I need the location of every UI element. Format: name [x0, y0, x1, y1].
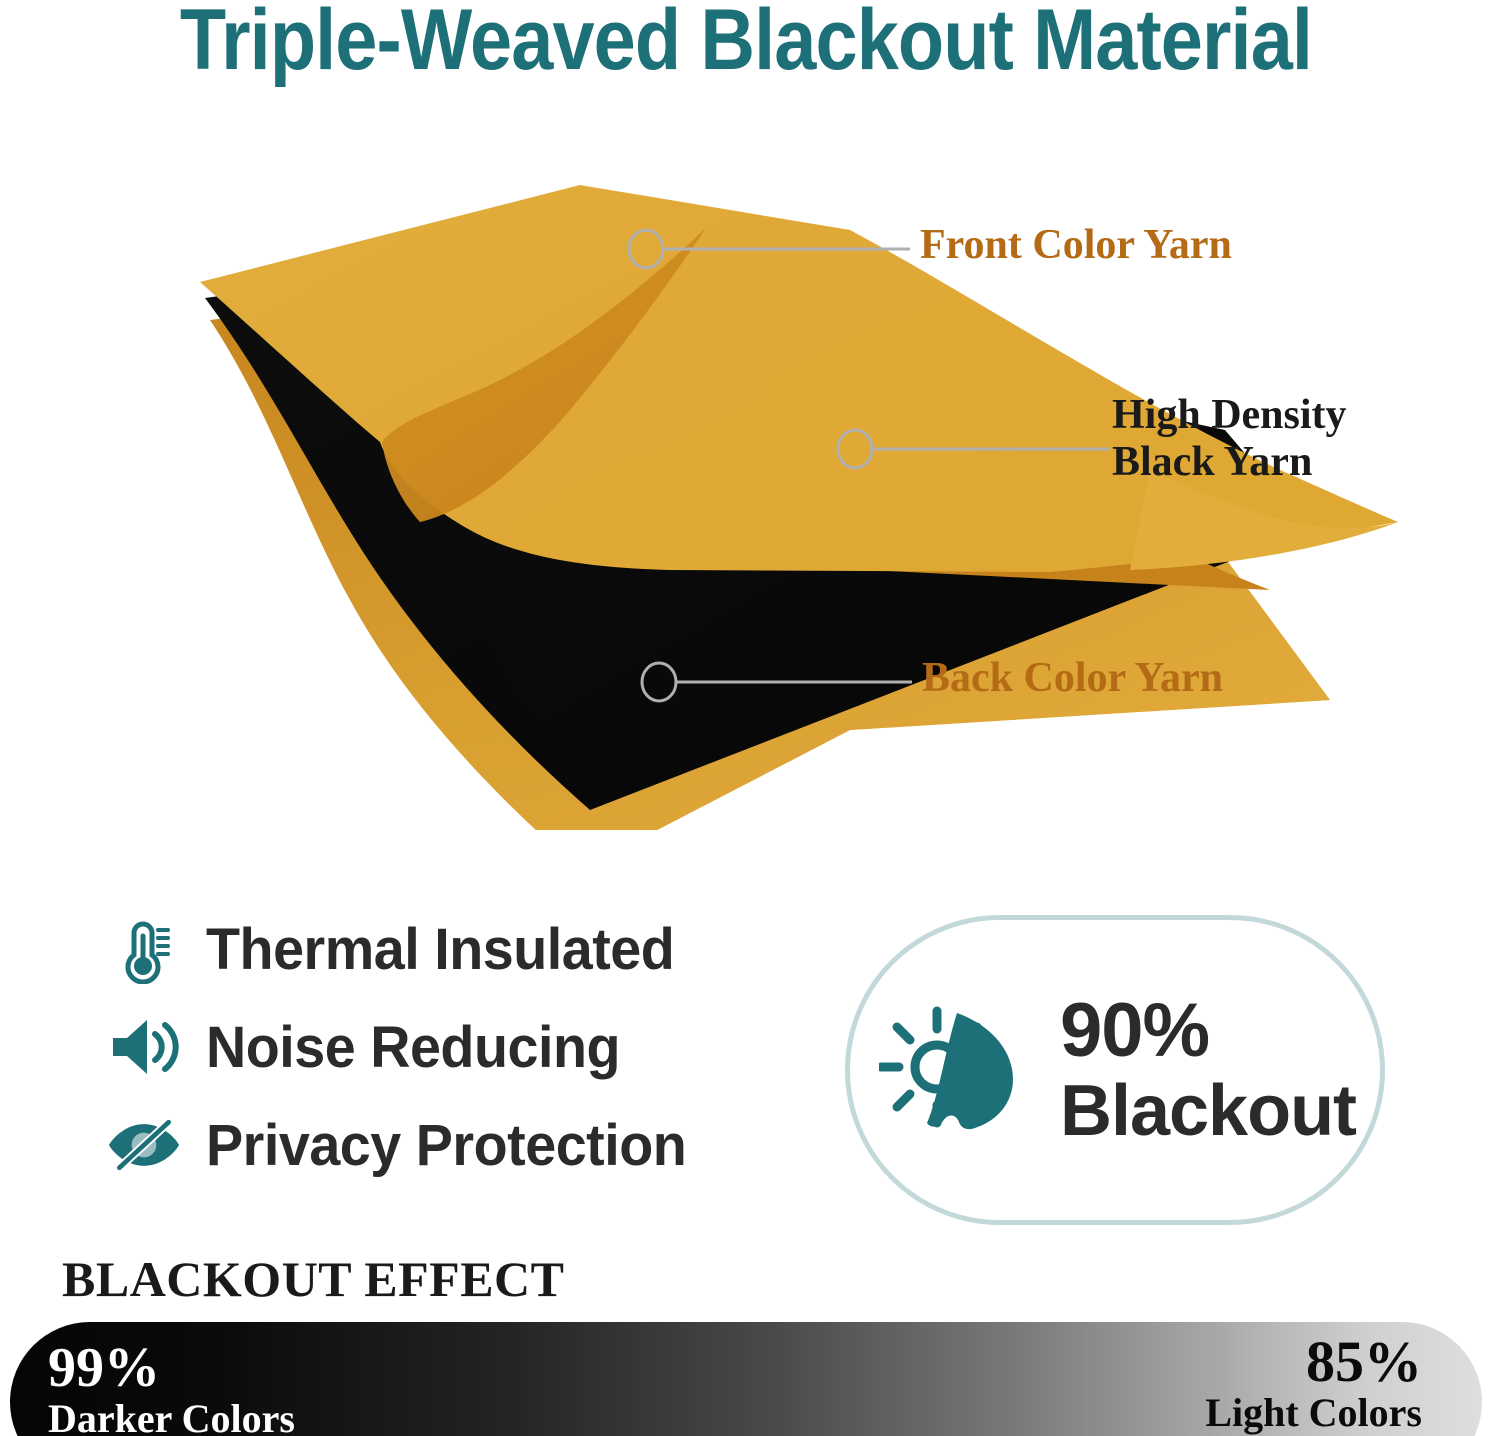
darker-colors-percent: 99%	[48, 1340, 295, 1397]
blackout-percent-value: 90%	[1060, 993, 1356, 1069]
label-high-density-black-yarn: High Density Black Yarn	[1112, 392, 1347, 486]
speaker-sound-icon	[108, 1011, 180, 1083]
label-back-color-yarn: Back Color Yarn	[922, 655, 1223, 702]
feature-list: Thermal Insulated Noise Reducing	[108, 900, 808, 1194]
feature-label-thermal-insulated: Thermal Insulated	[206, 916, 674, 983]
feature-item-thermal-insulated: Thermal Insulated	[108, 900, 808, 998]
light-colors-label: Light Colors	[1205, 1393, 1422, 1434]
blackout-percentage-badge: 90% Blackout	[845, 915, 1385, 1225]
feature-item-privacy-protection: Privacy Protection	[108, 1096, 808, 1194]
feature-item-noise-reducing: Noise Reducing	[108, 998, 808, 1096]
label-front-color-yarn-text: Front Color Yarn	[920, 222, 1232, 268]
thermometer-icon	[108, 913, 180, 985]
feature-label-noise-reducing: Noise Reducing	[206, 1014, 620, 1081]
label-high-density-black-yarn-line1: High Density	[1112, 392, 1347, 439]
page-title: Triple-Weaved Blackout Material	[90, 0, 1403, 87]
sun-behind-curtain-icon	[874, 990, 1034, 1150]
blackout-effect-title: BLACKOUT EFFECT	[62, 1250, 565, 1308]
infographic-page: Triple-Weaved Blackout Material	[0, 0, 1492, 1436]
label-front-color-yarn: Front Color Yarn	[920, 222, 1232, 269]
blackout-effect-light-colors: 85% Light Colors	[1205, 1332, 1422, 1434]
eye-slash-icon	[108, 1109, 180, 1181]
blackout-effect-darker-colors: 99% Darker Colors	[48, 1340, 295, 1436]
label-high-density-black-yarn-line2: Black Yarn	[1112, 439, 1347, 486]
blackout-word-label: Blackout	[1060, 1075, 1356, 1147]
feature-label-privacy-protection: Privacy Protection	[206, 1112, 686, 1179]
light-colors-percent: 85%	[1205, 1332, 1422, 1391]
label-back-color-yarn-text: Back Color Yarn	[922, 655, 1223, 701]
blackout-badge-text: 90% Blackout	[1060, 993, 1356, 1147]
darker-colors-label: Darker Colors	[48, 1399, 295, 1436]
